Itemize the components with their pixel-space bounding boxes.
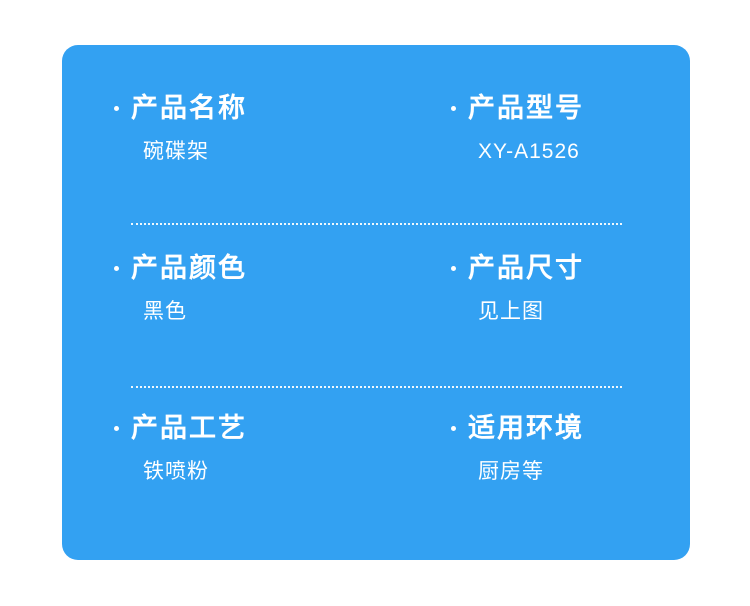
spec-value: 厨房等	[468, 458, 690, 486]
spec-grid: 产品名称 碗碟架 产品型号 XY-A1526 产品颜色 黑色	[62, 45, 690, 560]
bullet-dot-icon	[451, 426, 456, 431]
spec-label-text: 产品尺寸	[468, 253, 584, 283]
spec-label: 适用环境	[468, 411, 690, 445]
spec-label: 产品颜色	[131, 251, 376, 285]
bullet-dot-icon	[114, 426, 119, 431]
spec-label-text: 产品名称	[131, 93, 247, 123]
spec-value: 见上图	[468, 298, 690, 326]
bullet-dot-icon	[451, 266, 456, 271]
spec-row: 产品名称 碗碟架 产品型号 XY-A1526	[62, 91, 690, 251]
spec-label-text: 产品颜色	[131, 253, 247, 283]
row-divider	[131, 223, 622, 225]
spec-label: 产品工艺	[131, 411, 376, 445]
spec-cell-product-craft: 产品工艺 铁喷粉	[62, 411, 376, 571]
spec-label: 产品尺寸	[468, 251, 690, 285]
spec-label-text: 产品型号	[468, 93, 584, 123]
bullet-dot-icon	[114, 106, 119, 111]
spec-label: 产品型号	[468, 91, 690, 125]
spec-cell-usage-environment: 适用环境 厨房等	[376, 411, 690, 571]
bullet-dot-icon	[451, 106, 456, 111]
spec-value: XY-A1526	[468, 138, 690, 166]
spec-label-text: 产品工艺	[131, 413, 247, 443]
spec-row: 产品工艺 铁喷粉 适用环境 厨房等	[62, 411, 690, 571]
bullet-dot-icon	[114, 266, 119, 271]
product-spec-card: 产品名称 碗碟架 产品型号 XY-A1526 产品颜色 黑色	[62, 45, 690, 560]
spec-cell-product-model: 产品型号 XY-A1526	[376, 91, 690, 251]
spec-value: 黑色	[131, 298, 376, 326]
spec-label-text: 适用环境	[468, 413, 584, 443]
spec-value: 铁喷粉	[131, 458, 376, 486]
row-divider	[131, 386, 622, 388]
spec-label: 产品名称	[131, 91, 376, 125]
spec-value: 碗碟架	[131, 138, 376, 166]
spec-cell-product-name: 产品名称 碗碟架	[62, 91, 376, 251]
